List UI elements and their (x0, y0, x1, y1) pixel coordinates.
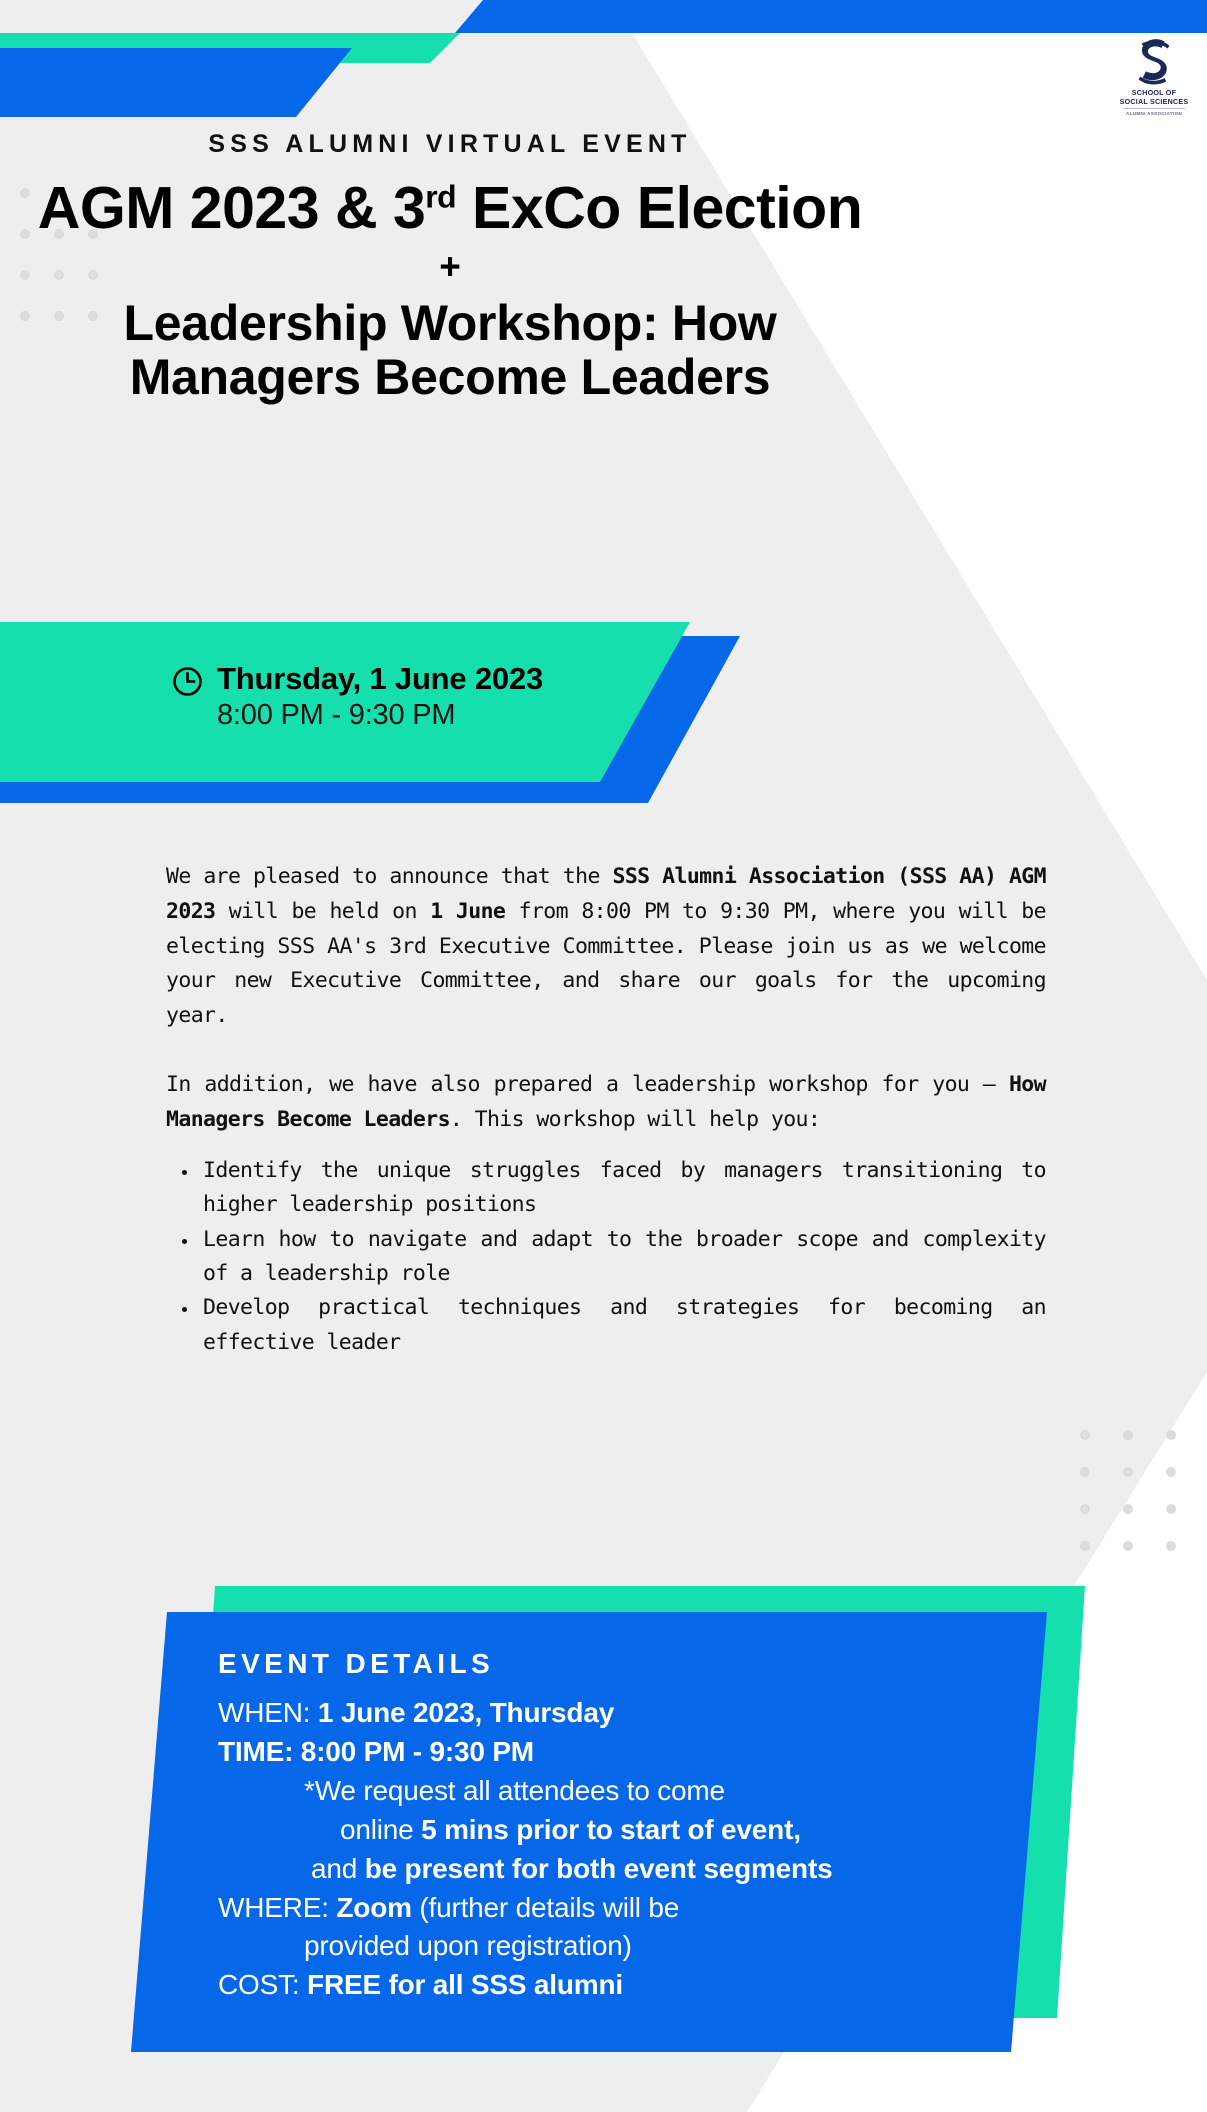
subtitle-line-1: Leadership Workshop: How (0, 296, 900, 350)
dot (1166, 1504, 1176, 1514)
workshop-benefits-list: Identify the unique struggles faced by m… (166, 1154, 1046, 1360)
dot (1166, 1467, 1176, 1477)
logo-divider (1123, 108, 1185, 109)
workshop-paragraph: In addition, we have also prepared a lea… (166, 1068, 1046, 1138)
details-note-3-bold: be present for both event segments (365, 1853, 833, 1884)
page-title: AGM 2023 & 3rd ExCo Election (0, 178, 900, 239)
list-item: Identify the unique struggles faced by m… (199, 1154, 1046, 1223)
dot (1123, 1504, 1133, 1514)
details-time: TIME: 8:00 PM - 9:30 PM (218, 1733, 1008, 1772)
list-item: Develop practical techniques and strateg… (199, 1291, 1046, 1360)
title-plus-separator: + (0, 243, 900, 292)
event-details-panel: EVENT DETAILS WHEN: 1 June 2023, Thursda… (218, 1648, 1008, 2005)
dot (1080, 1504, 1090, 1514)
dot (1080, 1467, 1090, 1477)
sss-monogram-icon (1131, 36, 1177, 88)
list-item: Learn how to navigate and adapt to the b… (199, 1223, 1046, 1292)
event-time: 8:00 PM - 9:30 PM (217, 697, 543, 733)
details-cost-label: COST: (218, 1969, 307, 2000)
details-where-continued: provided upon registration) (218, 1927, 1008, 1966)
details-where-bold: Zoom (336, 1892, 411, 1923)
organization-logo: SCHOOL OF SOCIAL SCIENCES ALUMNI ASSOCIA… (1106, 36, 1202, 116)
body-copy: We are pleased to announce that the SSS … (166, 860, 1046, 1360)
dot (1080, 1541, 1090, 1551)
clock-icon (172, 666, 203, 697)
dot (1123, 1467, 1133, 1477)
top-blue-parallelogram (0, 48, 352, 117)
details-time-label: TIME: (218, 1736, 301, 1767)
dot (1123, 1541, 1133, 1551)
subtitle-line-2: Managers Become Leaders (0, 350, 900, 404)
event-poster: SCHOOL OF SOCIAL SCIENCES ALUMNI ASSOCIA… (0, 0, 1207, 2112)
details-note-line-1: *We request all attendees to come (218, 1772, 1008, 1811)
logo-subtitle: ALUMNI ASSOCIATION (1106, 111, 1202, 116)
details-where-label: WHERE: (218, 1892, 336, 1923)
title-block: AGM 2023 & 3rd ExCo Election + Leadershi… (0, 178, 900, 404)
logo-line-1: SCHOOL OF (1106, 88, 1202, 97)
details-when-label: WHEN: (218, 1697, 318, 1728)
dot-pattern-right (1080, 1430, 1207, 1578)
title-ordinal-suffix: rd (425, 178, 456, 214)
details-note-3-pre: and (311, 1853, 365, 1884)
details-when-value: 1 June 2023, Thursday (318, 1697, 614, 1728)
details-heading: EVENT DETAILS (218, 1648, 1008, 1680)
subtitle: Leadership Workshop: How Managers Become… (0, 296, 900, 404)
details-note-2-pre: online (340, 1814, 421, 1845)
date-time-text: Thursday, 1 June 2023 8:00 PM - 9:30 PM (217, 662, 543, 733)
details-where-rest: (further details will be (412, 1892, 679, 1923)
details-time-value: 8:00 PM - 9:30 PM (301, 1736, 534, 1767)
details-note-line-2: online 5 mins prior to start of event, (218, 1811, 1008, 1850)
details-where: WHERE: Zoom (further details will be (218, 1889, 1008, 1928)
dot (1166, 1541, 1176, 1551)
event-date: Thursday, 1 June 2023 (217, 662, 543, 697)
dot (1166, 1430, 1176, 1440)
eyebrow-label: SSS ALUMNI VIRTUAL EVENT (0, 130, 900, 159)
dot (1080, 1430, 1090, 1440)
date-time-banner: Thursday, 1 June 2023 8:00 PM - 9:30 PM (172, 662, 543, 733)
intro-paragraph: We are pleased to announce that the SSS … (166, 860, 1046, 1034)
title-main-pre: AGM 2023 & 3 (38, 175, 426, 241)
top-blue-band (455, 0, 1207, 33)
details-note-line-3: and be present for both event segments (218, 1850, 1008, 1889)
title-main-post: ExCo Election (456, 175, 862, 241)
details-cost-value: FREE for all SSS alumni (307, 1969, 623, 2000)
details-note-2-bold: 5 mins prior to start of event, (421, 1814, 801, 1845)
dot (1123, 1430, 1133, 1440)
logo-line-2: SOCIAL SCIENCES (1106, 97, 1202, 106)
details-cost: COST: FREE for all SSS alumni (218, 1966, 1008, 2005)
details-when: WHEN: 1 June 2023, Thursday (218, 1694, 1008, 1733)
